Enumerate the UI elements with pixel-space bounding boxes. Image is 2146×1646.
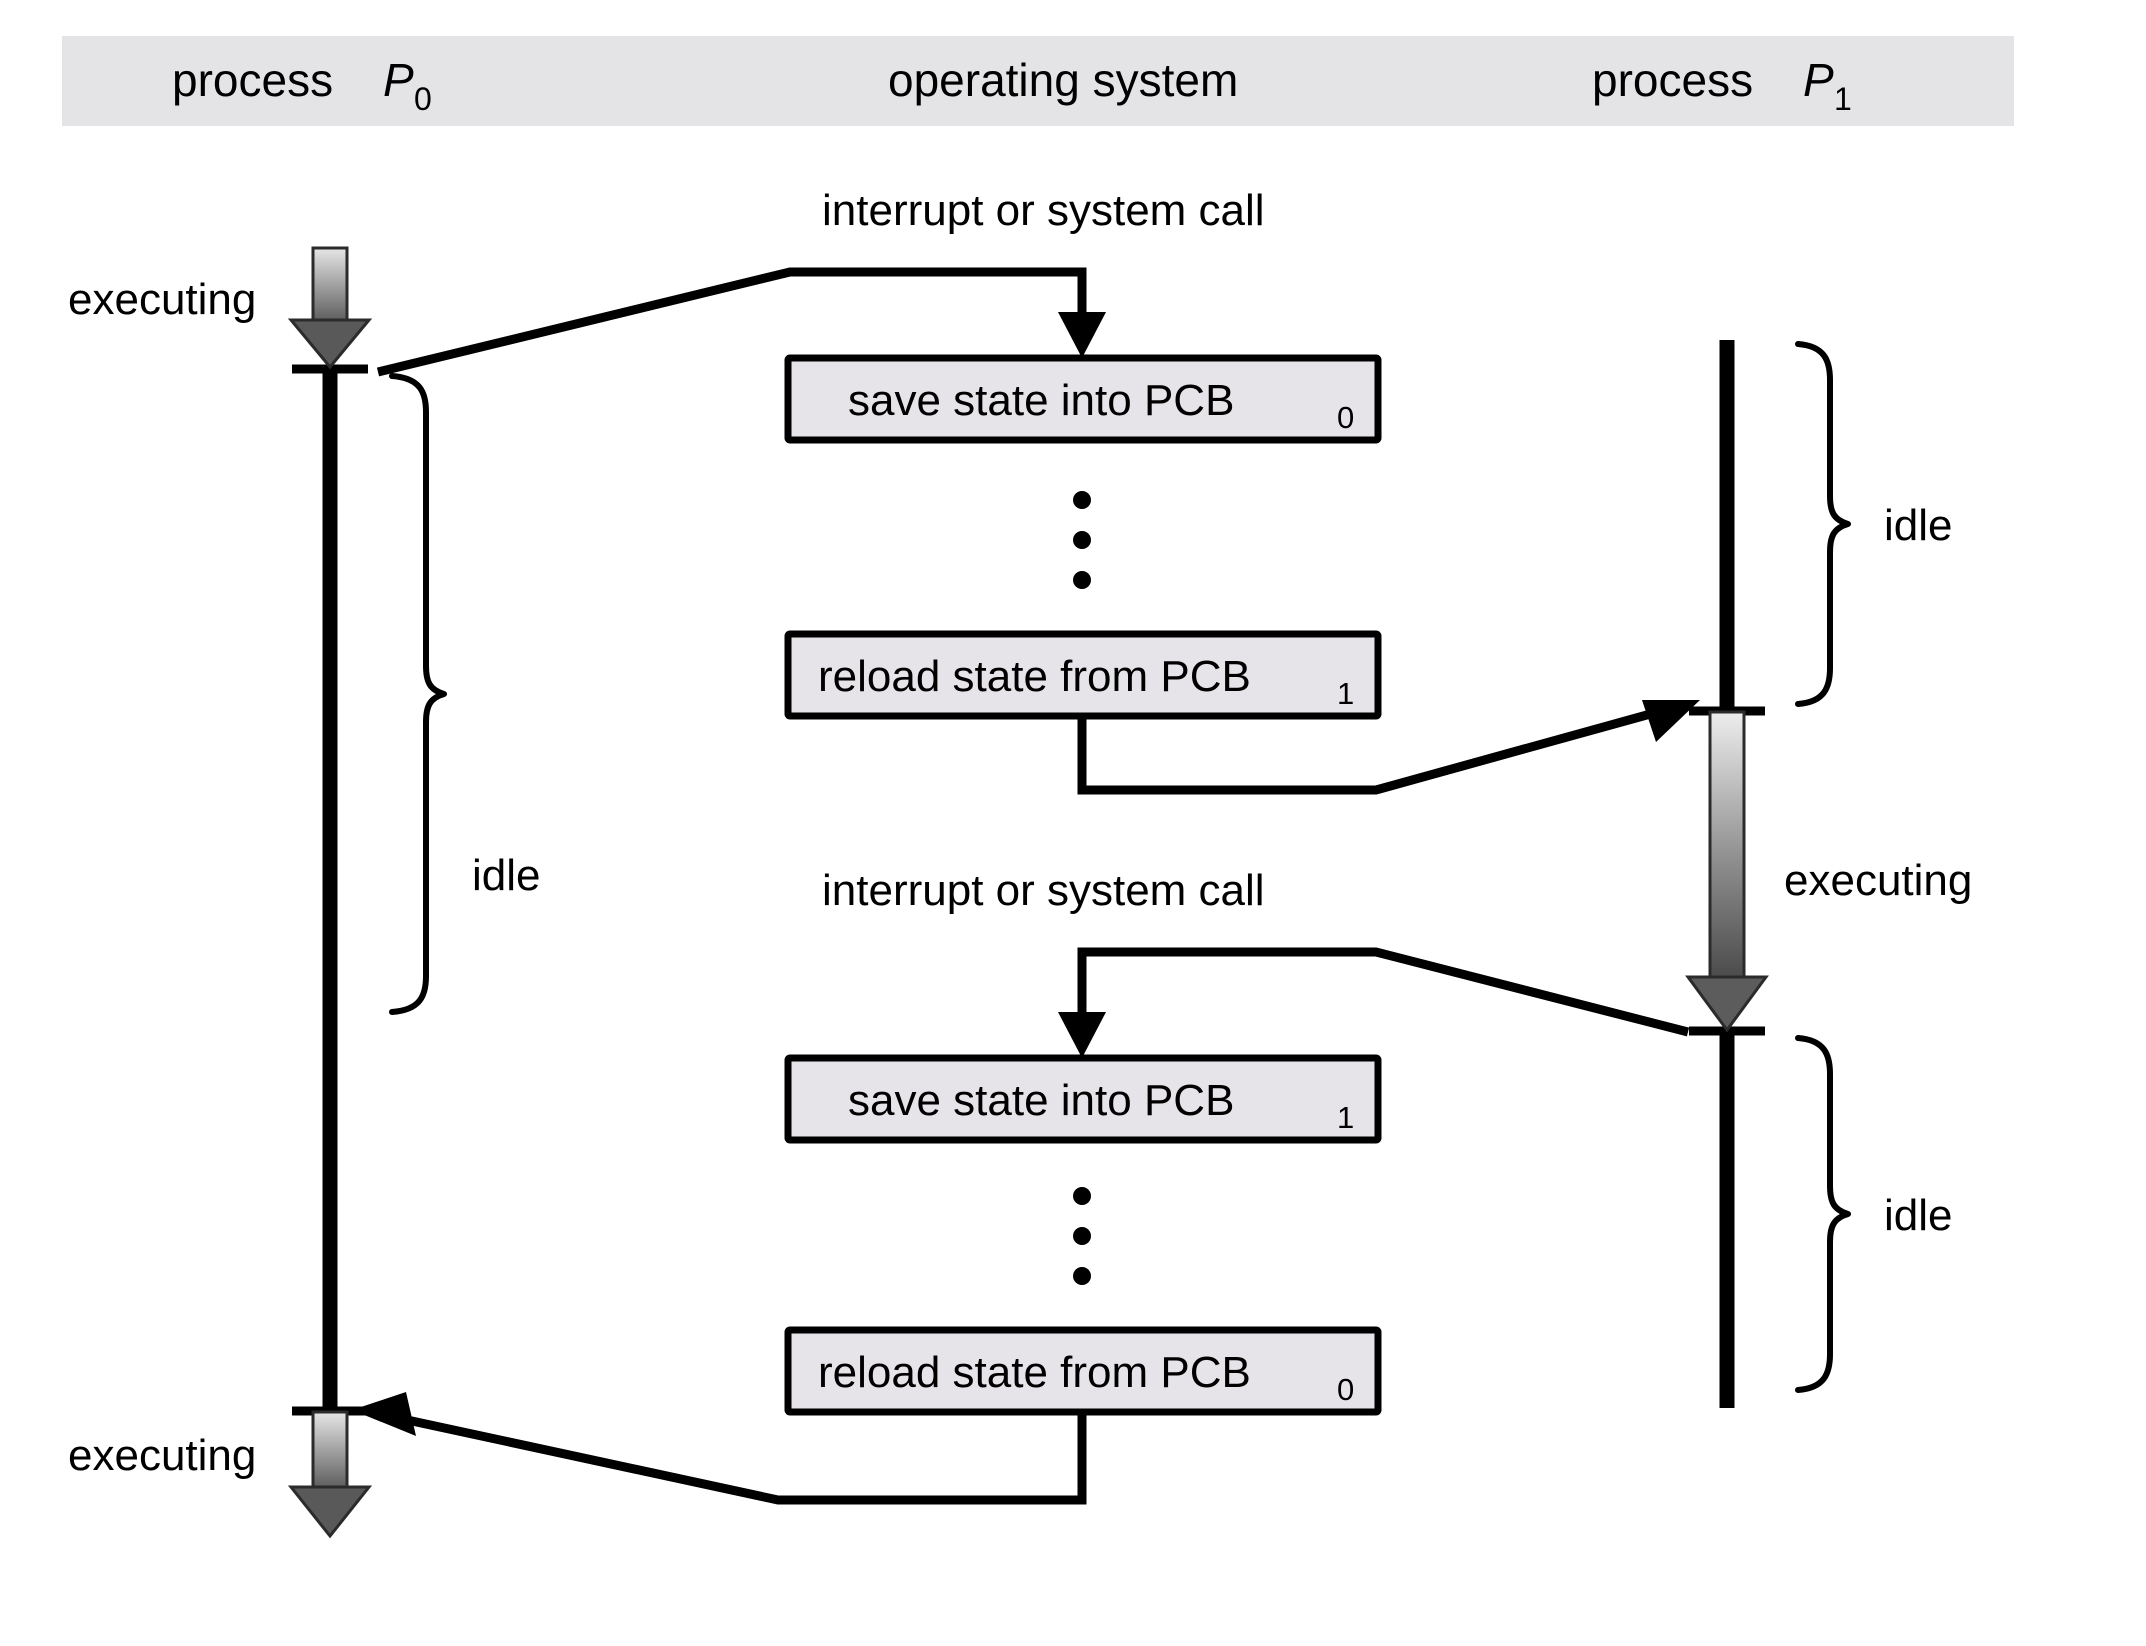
os-box-3-label: reload state from PCB [818,1348,1251,1397]
context-switch-diagram: process P 0 operating system process P 1… [0,0,2146,1646]
arrowhead-into-os-box-0 [1058,312,1106,358]
arrowhead-into-os-box-2 [1058,1012,1106,1058]
os-box-0-label: save state into PCB [848,376,1234,425]
p1-state-idle-top: idle [1884,501,1953,550]
header-p0-symbol: P [383,54,414,106]
connector-os-to-p1 [1082,708,1672,790]
header-operating-system: operating system [888,54,1238,106]
header-p1-subscript: 1 [1834,81,1852,117]
os-box-0-subscript: 0 [1337,400,1354,435]
header-p0-label: process [172,54,333,106]
p1-idle-brace-bottom [1798,1038,1848,1390]
p1-state-idle-bottom: idle [1884,1191,1953,1240]
p0-executing-arrow-bottom [291,1412,369,1536]
p0-idle-brace [392,376,444,1012]
os-box-1-subscript: 1 [1337,676,1354,711]
os-box-2-label: save state into PCB [848,1076,1234,1125]
arrowhead-into-p1 [1642,700,1700,742]
connector-os-to-p0 [398,1412,1082,1500]
p0-state-executing-bottom: executing [68,1431,256,1480]
p1-idle-brace-top [1798,344,1848,704]
figure-canvas: process P 0 operating system process P 1… [0,0,2146,1646]
os-box-2-subscript: 1 [1337,1100,1354,1135]
ellipsis-dots-lower [1073,1187,1091,1285]
p1-executing-arrow [1688,712,1766,1030]
header-p1-symbol: P [1803,54,1834,106]
header-p0-subscript: 0 [414,81,432,117]
os-box-3-subscript: 0 [1337,1372,1354,1407]
p0-state-executing-top: executing [68,275,256,324]
os-box-1-label: reload state from PCB [818,652,1251,701]
interrupt-label-0: interrupt or system call [822,186,1265,235]
ellipsis-dots-upper [1073,491,1091,589]
connector-p1-to-os [1082,952,1688,1040]
p0-state-idle: idle [472,851,541,900]
p1-state-executing: executing [1784,856,1972,905]
p0-executing-arrow-top [291,248,369,367]
interrupt-label-1: interrupt or system call [822,866,1265,915]
header-p1-label: process [1592,54,1753,106]
